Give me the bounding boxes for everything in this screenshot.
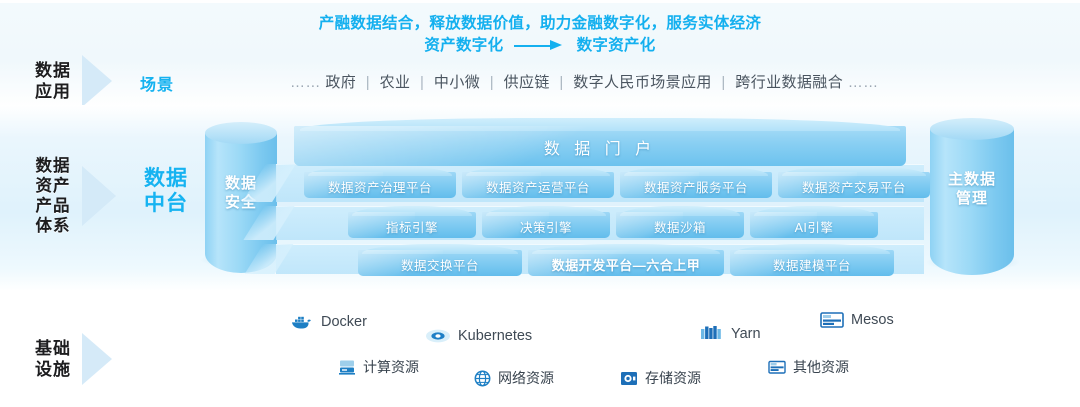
scenario-item-2[interactable]: 中小微	[434, 74, 480, 91]
infra-item-label: 计算资源	[363, 357, 419, 377]
cylinder-top-ellipse	[930, 118, 1014, 140]
data-middle-platform-title-line-2: 中台	[138, 191, 194, 216]
scenario-separator: |	[485, 74, 499, 91]
box-label: 数据交换平台	[358, 255, 522, 274]
scenario-separator: |	[361, 74, 375, 91]
scenario-list: …… 政府 | 农业 | 中小微 | 供应链 | 数字人民币场景应用 | 跨行业…	[290, 71, 910, 92]
infra-item-kubernetes[interactable]: Kubernetes	[425, 327, 532, 345]
yarn-bars-icon	[700, 325, 724, 342]
headline-left-term: 资产数字化	[424, 37, 503, 54]
row-label-line-2: 资产	[28, 176, 78, 196]
headline-right-term: 数字资产化	[577, 37, 656, 54]
box-data-modeling-platform[interactable]: 数据建模平台	[730, 244, 894, 276]
row-label-text: 数据 应用	[28, 60, 78, 102]
globe-icon	[474, 370, 491, 387]
infra-item-docker[interactable]: Docker	[290, 313, 367, 331]
scenario-trailing-dots: ……	[848, 74, 879, 91]
scenario-item-0[interactable]: 政府	[325, 74, 356, 91]
scenario-item-1[interactable]: 农业	[380, 74, 411, 91]
platform-stack: 数 据 门 户 数据资产治理平台 数据资产运营平台 数据资产服务平台 数据资产交…	[286, 118, 916, 270]
data-middle-platform-title: 数据 中台	[138, 166, 194, 216]
box-label: 数据建模平台	[730, 255, 894, 274]
cylinder-label-line-2: 管理	[930, 189, 1014, 208]
scenario-leading-dots: ……	[290, 74, 321, 91]
row-label-line-4: 体系	[28, 216, 78, 236]
box-label: 数据沙箱	[616, 217, 744, 236]
box-decision-engine[interactable]: 决策引擎	[482, 206, 610, 238]
box-label: 指标引擎	[348, 217, 476, 236]
box-label: 数据开发平台—六合上甲	[528, 255, 724, 274]
other-resource-icon	[768, 360, 786, 375]
infra-item-label: Mesos	[851, 312, 894, 328]
box-data-asset-trading-platform[interactable]: 数据资产交易平台	[778, 166, 930, 198]
row-arrow-icon	[82, 333, 112, 385]
box-data-exchange-platform[interactable]: 数据交换平台	[358, 244, 522, 276]
mesos-panel-icon	[820, 311, 844, 329]
box-ai-engine[interactable]: AI引擎	[750, 206, 878, 238]
scenario-item-5[interactable]: 跨行业数据融合	[735, 74, 843, 91]
infra-item-label: 网络资源	[498, 368, 554, 388]
infra-item-yarn[interactable]: Yarn	[700, 325, 761, 342]
box-data-sandbox[interactable]: 数据沙箱	[616, 206, 744, 238]
row-label-line-2: 设施	[28, 359, 78, 380]
scenario-title: 场景	[140, 71, 174, 95]
data-portal-slab[interactable]: 数 据 门 户	[294, 118, 906, 166]
row-label-text: 数据 资产 产品 体系	[28, 156, 78, 236]
diagram-canvas: · ·· ··· · ·· ·· · ·· · 产融数据结合，释放数据价值，助力…	[0, 0, 1080, 407]
box-label: 数据资产交易平台	[778, 177, 930, 196]
box-metric-engine[interactable]: 指标引擎	[348, 206, 476, 238]
box-data-asset-service-platform[interactable]: 数据资产服务平台	[620, 166, 772, 198]
cylinder-master-data-management[interactable]: 主数据 管理	[930, 118, 1014, 264]
infra-item-storage-resource[interactable]: 存储资源	[620, 368, 701, 388]
row-label-infrastructure: 基础 设施	[28, 333, 112, 385]
infra-item-label: Kubernetes	[458, 328, 532, 344]
headline-line-1: 产融数据结合，释放数据价值，助力金融数字化，服务实体经济	[0, 13, 1080, 35]
row-label-line-1: 数据	[28, 60, 78, 81]
row-arrow-icon	[82, 55, 112, 107]
kubernetes-helm-icon	[425, 327, 451, 345]
box-label: 数据资产运营平台	[462, 177, 614, 196]
infra-item-label: 存储资源	[645, 368, 701, 388]
infra-item-mesos[interactable]: Mesos	[820, 311, 894, 329]
box-label: 决策引擎	[482, 217, 610, 236]
row-label-product-system: 数据 资产 产品 体系	[28, 156, 116, 236]
scenario-separator: |	[716, 74, 730, 91]
infra-item-other-resource[interactable]: 其他资源	[768, 357, 849, 377]
storage-icon	[620, 370, 638, 387]
box-label: AI引擎	[750, 217, 878, 236]
scenario-separator: |	[415, 74, 429, 91]
data-portal-label: 数 据 门 户	[294, 135, 906, 159]
box-data-development-platform[interactable]: 数据开发平台—六合上甲	[528, 244, 724, 276]
data-middle-platform-title-line-1: 数据	[138, 166, 194, 191]
infra-item-label: Docker	[321, 314, 367, 330]
headline-banner: 产融数据结合，释放数据价值，助力金融数字化，服务实体经济 资产数字化 数字资产化	[0, 13, 1080, 57]
cylinder-label: 主数据 管理	[930, 170, 1014, 208]
server-icon	[338, 358, 356, 376]
box-data-asset-operation-platform[interactable]: 数据资产运营平台	[462, 166, 614, 198]
right-arrow-icon	[514, 40, 566, 52]
box-data-asset-governance-platform[interactable]: 数据资产治理平台	[304, 166, 456, 198]
section-data-application: 产融数据结合，释放数据价值，助力金融数字化，服务实体经济 资产数字化 数字资产化…	[0, 3, 1080, 108]
cylinder-label-line-1: 主数据	[930, 170, 1014, 189]
infra-item-label: Yarn	[731, 326, 761, 342]
scenario-separator: |	[554, 74, 568, 91]
row-label-line-1: 数据	[28, 156, 78, 176]
row-label-data-application: 数据 应用	[28, 55, 112, 107]
infra-item-compute-resource[interactable]: 计算资源	[338, 357, 419, 377]
row-label-text: 基础 设施	[28, 338, 78, 380]
row-label-line-3: 产品	[28, 196, 78, 216]
row-label-line-2: 应用	[28, 81, 78, 102]
row-label-line-1: 基础	[28, 338, 78, 359]
scenario-item-4[interactable]: 数字人民币场景应用	[573, 74, 712, 91]
scenario-item-3[interactable]: 供应链	[504, 74, 550, 91]
docker-whale-icon	[290, 313, 314, 331]
box-label: 数据资产治理平台	[304, 177, 456, 196]
cylinder-top-ellipse	[205, 122, 277, 144]
infra-item-label: 其他资源	[793, 357, 849, 377]
infra-item-network-resource[interactable]: 网络资源	[474, 368, 554, 388]
box-label: 数据资产服务平台	[620, 177, 772, 196]
row-arrow-icon	[82, 166, 116, 226]
headline-line-2: 资产数字化 数字资产化	[0, 35, 1080, 57]
